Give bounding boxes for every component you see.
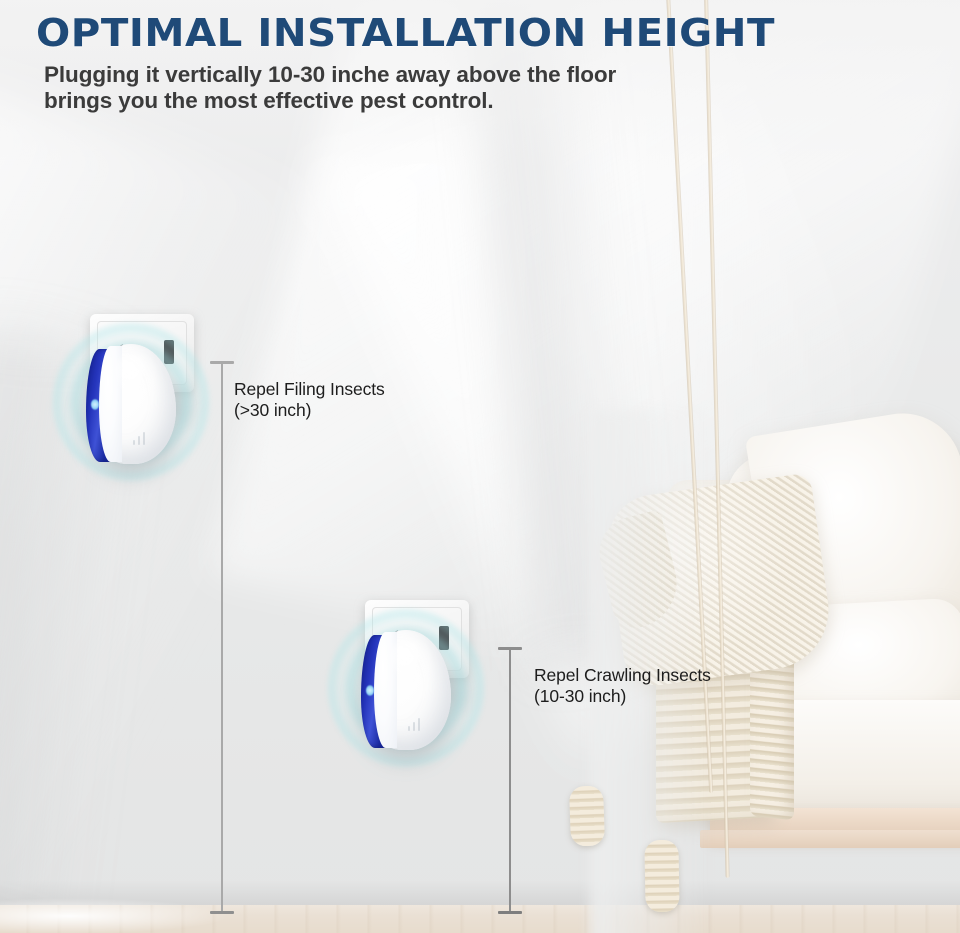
floor-highlight [0, 898, 230, 933]
page-subtitle-line-1: Plugging it vertically 10-30 inche away … [44, 62, 664, 88]
lower-dimension-stem [509, 647, 511, 914]
callout-crawling-line-1: Repel Crawling Insects [534, 665, 711, 685]
upper-dimension-line [210, 361, 234, 914]
upper-dimension-cap-bottom [210, 911, 234, 914]
page-subtitle: Plugging it vertically 10-30 inche away … [44, 62, 664, 115]
pest-repeller-device-upper[interactable] [86, 344, 176, 464]
upper-dimension-stem [221, 361, 223, 914]
cord-tassel-left [569, 785, 605, 846]
device-highlight-lower [388, 640, 426, 681]
cord-tassel-right [644, 840, 679, 913]
device-signal-logo-upper [133, 430, 149, 444]
device-signal-logo-lower [408, 716, 424, 730]
callout-crawling-line-2: (10-30 inch) [534, 686, 711, 707]
lower-repeller-assembly [333, 602, 485, 772]
page-subtitle-line-2: brings you the most effective pest contr… [44, 88, 664, 114]
device-highlight-upper [113, 354, 151, 395]
page-title: OPTIMAL INSTALLATION HEIGHT [36, 14, 775, 52]
product-infographic: Repel Filing Insects (>30 inch) Repel Cr… [0, 0, 960, 933]
lower-dimension-cap-bottom [498, 911, 522, 914]
pest-repeller-device-lower[interactable] [361, 630, 451, 750]
callout-flying-line-2: (>30 inch) [234, 400, 385, 421]
upper-repeller-assembly [58, 316, 210, 486]
sofa-base-front-lip [700, 830, 960, 848]
callout-flying-line-1: Repel Filing Insects [234, 379, 385, 399]
callout-crawling-insects: Repel Crawling Insects (10-30 inch) [534, 665, 711, 708]
callout-flying-insects: Repel Filing Insects (>30 inch) [234, 379, 385, 422]
lower-dimension-line [498, 647, 522, 914]
